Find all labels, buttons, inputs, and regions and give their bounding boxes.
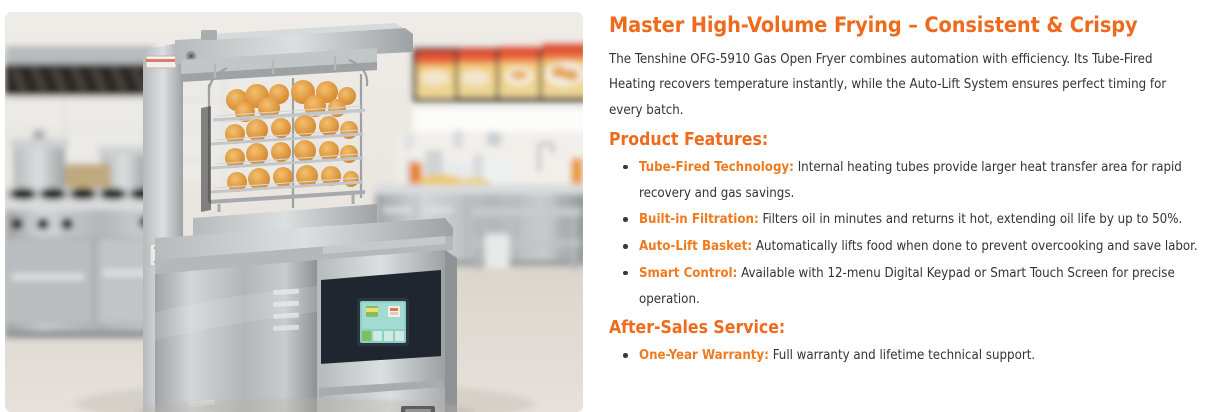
after-sales-service-list: One-Year Warranty: Full warranty and lif… (609, 343, 1224, 369)
product-detail-panel: Master High-Volume Frying – Consistent &… (0, 0, 1230, 404)
list-item: Built-in Filtration: Filters oil in minu… (623, 207, 1224, 233)
bullet-icon (623, 353, 628, 358)
feature-text: Automatically lifts food when done to pr… (752, 239, 1198, 254)
bullet-icon (623, 244, 628, 249)
feature-text: Filters oil in minutes and returns it ho… (759, 212, 1183, 227)
product-features-list: Tube-Fired Technology: Internal heating … (609, 155, 1224, 312)
bullet-icon (623, 165, 628, 170)
list-item: Tube-Fired Technology: Internal heating … (623, 155, 1224, 206)
feature-label: Tube-Fired Technology: (639, 160, 794, 175)
list-item: Smart Control: Available with 12-menu Di… (623, 261, 1224, 312)
product-photo (5, 12, 583, 412)
section-heading-product-features: Product Features: (609, 130, 1224, 151)
product-title: Master High-Volume Frying – Consistent &… (609, 14, 1224, 39)
product-copy-column: Master High-Volume Frying – Consistent &… (600, 0, 1230, 404)
service-label: One-Year Warranty: (639, 348, 769, 363)
service-text: Full warranty and lifetime technical sup… (769, 348, 1035, 363)
feature-label: Built-in Filtration: (639, 212, 759, 227)
product-intro-paragraph: The Tenshine OFG-5910 Gas Open Fryer com… (609, 47, 1201, 124)
feature-label: Auto-Lift Basket: (639, 239, 752, 254)
bullet-icon (623, 271, 628, 276)
section-heading-after-sales-service: After-Sales Service: (609, 318, 1224, 339)
list-item: One-Year Warranty: Full warranty and lif… (623, 343, 1224, 369)
feature-label: Smart Control: (639, 266, 737, 281)
product-image-column (0, 0, 600, 404)
bullet-icon (623, 217, 628, 222)
list-item: Auto-Lift Basket: Automatically lifts fo… (623, 234, 1224, 260)
